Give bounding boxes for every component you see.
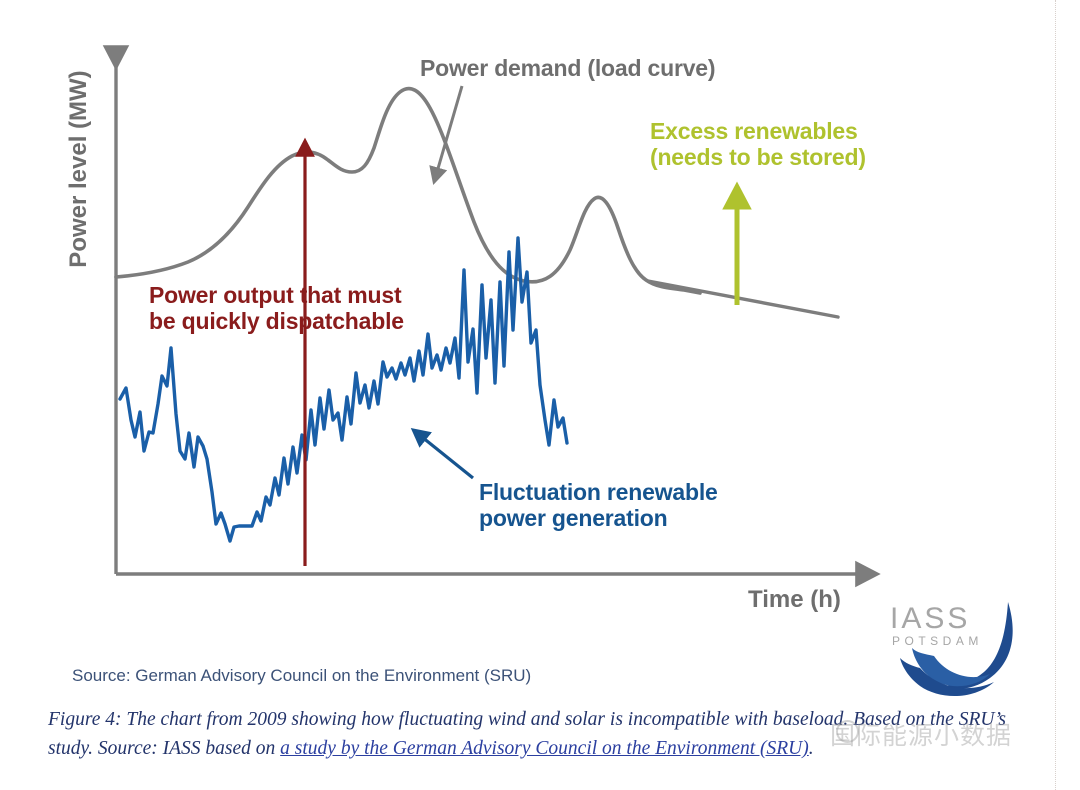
series-power-demand [116, 89, 700, 293]
caption-tail: . [809, 738, 814, 759]
caption-source-link[interactable]: a study by the German Advisory Council o… [280, 738, 809, 759]
y-axis-label: Power level (MW) [65, 64, 93, 274]
iass-swoosh-icon [890, 596, 1025, 706]
fluctuation-arrow [422, 437, 473, 478]
annotation-dispatchable: Power output that must be quickly dispat… [149, 283, 404, 335]
figure-page: Power level (MW) Time (h) Power demand (… [0, 0, 1080, 790]
watermark-circle-icon [836, 720, 859, 743]
iass-logo: IASS POTSDAM [890, 596, 1025, 706]
chart-canvas: Power level (MW) Time (h) Power demand (… [0, 0, 1000, 645]
annotation-fluctuation: Fluctuation renewable power generation [479, 480, 718, 532]
series-baseload-trend [648, 281, 838, 317]
annotation-power-demand: Power demand (load curve) [420, 56, 715, 82]
chart-source-note: Source: German Advisory Council on the E… [72, 666, 531, 686]
figure-caption: Figure 4: The chart from 2009 showing ho… [48, 705, 1048, 764]
page-boundary-line [1055, 0, 1056, 790]
annotation-excess-renewables: Excess renewables (needs to be stored) [650, 119, 866, 171]
x-axis-label: Time (h) [748, 586, 841, 614]
